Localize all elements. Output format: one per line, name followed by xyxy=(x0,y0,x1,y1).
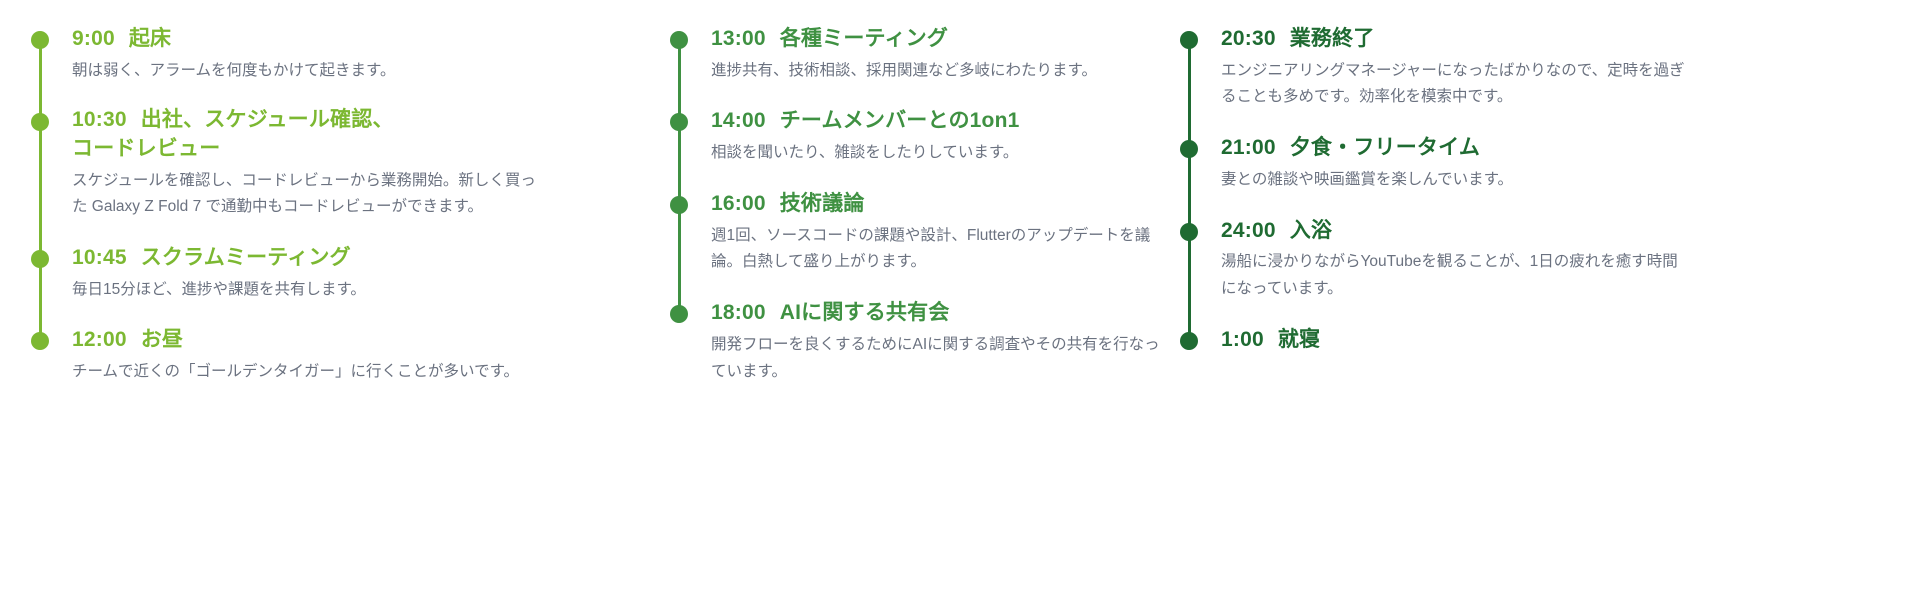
entry-time: 16:00 xyxy=(711,192,766,215)
entry-description: 週1回、ソースコードの課題や設計、Flutterのアップデートを議論。白熱して盛… xyxy=(711,223,1165,276)
timeline-dot-icon xyxy=(670,196,688,214)
daily-schedule-timeline: 9:00起床朝は弱く、アラームを何度もかけて起きます。10:30出社、スケジュー… xyxy=(0,0,1920,612)
entry-time: 10:30 xyxy=(72,108,127,131)
timeline-entry: 1:00就寝 xyxy=(1177,325,1920,355)
entry-heading: 10:30出社、スケジュール確認、 コードレビュー xyxy=(72,106,655,163)
timeline-dot-icon xyxy=(1180,332,1198,350)
entry-heading: 24:00入浴 xyxy=(1221,216,1920,246)
entry-heading: 9:00起床 xyxy=(72,24,655,54)
timeline-entry: 20:30業務終了エンジニアリングマネージャーになったばかりなので、定時を過ぎる… xyxy=(1177,24,1920,111)
column-afternoon: 13:00各種ミーティング進捗共有、技術相談、採用関連など多岐にわたります。14… xyxy=(655,24,1165,385)
entry-heading: 18:00AIに関する共有会 xyxy=(711,298,1165,328)
timeline-entry: 13:00各種ミーティング進捗共有、技術相談、採用関連など多岐にわたります。 xyxy=(667,24,1165,84)
timeline-dot-icon xyxy=(31,31,49,49)
column-evening: 20:30業務終了エンジニアリングマネージャーになったばかりなので、定時を過ぎる… xyxy=(1165,24,1920,359)
timeline-dot-icon xyxy=(31,332,49,350)
timeline-entry: 24:00入浴湯船に浸かりながらYouTubeを観ることが、1日の疲れを癒す時間… xyxy=(1177,216,1920,303)
timeline-dot-icon xyxy=(670,113,688,131)
timeline-entry: 10:45スクラムミーティング毎日15分ほど、進捗や課題を共有します。 xyxy=(28,243,655,303)
entry-description: スケジュールを確認し、コードレビューから業務開始。新しく買った Galaxy Z… xyxy=(72,168,542,221)
entry-description: 開発フローを良くするためにAIに関する調査やその共有を行なっています。 xyxy=(711,332,1165,385)
entry-heading: 13:00各種ミーティング xyxy=(711,24,1165,54)
timeline-dot-icon xyxy=(1180,140,1198,158)
entry-description: 朝は弱く、アラームを何度もかけて起きます。 xyxy=(72,58,542,85)
entry-title: AIに関する共有会 xyxy=(780,301,950,324)
timeline-entry-list: 9:00起床朝は弱く、アラームを何度もかけて起きます。10:30出社、スケジュー… xyxy=(28,24,655,386)
entry-title: スクラムミーティング xyxy=(141,246,351,269)
timeline-entry: 9:00起床朝は弱く、アラームを何度もかけて起きます。 xyxy=(28,24,655,84)
timeline-dot-icon xyxy=(1180,31,1198,49)
timeline-entry: 21:00夕食・フリータイム妻との雑談や映画鑑賞を楽しんでいます。 xyxy=(1177,133,1920,193)
entry-description: エンジニアリングマネージャーになったばかりなので、定時を過ぎることも多めです。効… xyxy=(1221,58,1691,111)
entry-title: チームメンバーとの1on1 xyxy=(780,109,1020,132)
timeline-dot-icon xyxy=(670,31,688,49)
entry-title: 夕食・フリータイム xyxy=(1290,136,1480,159)
timeline-entry: 14:00チームメンバーとの1on1相談を聞いたり、雑談をしたりしています。 xyxy=(667,106,1165,166)
timeline-entry: 12:00お昼チームで近くの「ゴールデンタイガー」に行くことが多いです。 xyxy=(28,325,655,385)
entry-time: 12:00 xyxy=(72,328,127,351)
entry-time: 24:00 xyxy=(1221,219,1276,242)
entry-time: 13:00 xyxy=(711,27,766,50)
entry-title: 各種ミーティング xyxy=(780,27,948,50)
entry-heading: 14:00チームメンバーとの1on1 xyxy=(711,106,1165,136)
column-morning: 9:00起床朝は弱く、アラームを何度もかけて起きます。10:30出社、スケジュー… xyxy=(0,24,655,386)
entry-time: 1:00 xyxy=(1221,328,1264,351)
entry-title: 就寝 xyxy=(1278,328,1320,351)
entry-heading: 12:00お昼 xyxy=(72,325,655,355)
entry-description: 妻との雑談や映画鑑賞を楽しんでいます。 xyxy=(1221,167,1691,194)
timeline-dot-icon xyxy=(31,250,49,268)
timeline-entry: 10:30出社、スケジュール確認、 コードレビュースケジュールを確認し、コードレ… xyxy=(28,106,655,220)
entry-description: 湯船に浸かりながらYouTubeを観ることが、1日の疲れを癒す時間になっています… xyxy=(1221,249,1691,302)
entry-title: 起床 xyxy=(129,27,171,50)
entry-heading: 16:00技術議論 xyxy=(711,189,1165,219)
entry-heading: 21:00夕食・フリータイム xyxy=(1221,133,1920,163)
entry-time: 14:00 xyxy=(711,109,766,132)
timeline-dot-icon xyxy=(1180,223,1198,241)
entry-time: 21:00 xyxy=(1221,136,1276,159)
entry-description: チームで近くの「ゴールデンタイガー」に行くことが多いです。 xyxy=(72,359,542,386)
entry-title: 技術議論 xyxy=(780,192,865,215)
entry-heading: 20:30業務終了 xyxy=(1221,24,1920,54)
entry-description: 相談を聞いたり、雑談をしたりしています。 xyxy=(711,140,1165,167)
timeline-entry: 16:00技術議論週1回、ソースコードの課題や設計、Flutterのアップデート… xyxy=(667,189,1165,276)
timeline-entry-list: 13:00各種ミーティング進捗共有、技術相談、採用関連など多岐にわたります。14… xyxy=(667,24,1165,385)
entry-time: 18:00 xyxy=(711,301,766,324)
entry-heading: 1:00就寝 xyxy=(1221,325,1920,355)
entry-title: 業務終了 xyxy=(1290,27,1375,50)
entry-time: 20:30 xyxy=(1221,27,1276,50)
timeline-entry-list: 20:30業務終了エンジニアリングマネージャーになったばかりなので、定時を過ぎる… xyxy=(1177,24,1920,355)
entry-time: 10:45 xyxy=(72,246,127,269)
timeline-entry: 18:00AIに関する共有会開発フローを良くするためにAIに関する調査やその共有… xyxy=(667,298,1165,385)
entry-heading: 10:45スクラムミーティング xyxy=(72,243,655,273)
entry-description: 進捗共有、技術相談、採用関連など多岐にわたります。 xyxy=(711,58,1165,85)
entry-time: 9:00 xyxy=(72,27,115,50)
entry-title: 入浴 xyxy=(1290,219,1332,242)
timeline-dot-icon xyxy=(670,305,688,323)
entry-title: お昼 xyxy=(141,328,183,351)
timeline-dot-icon xyxy=(31,113,49,131)
entry-description: 毎日15分ほど、進捗や課題を共有します。 xyxy=(72,277,542,304)
